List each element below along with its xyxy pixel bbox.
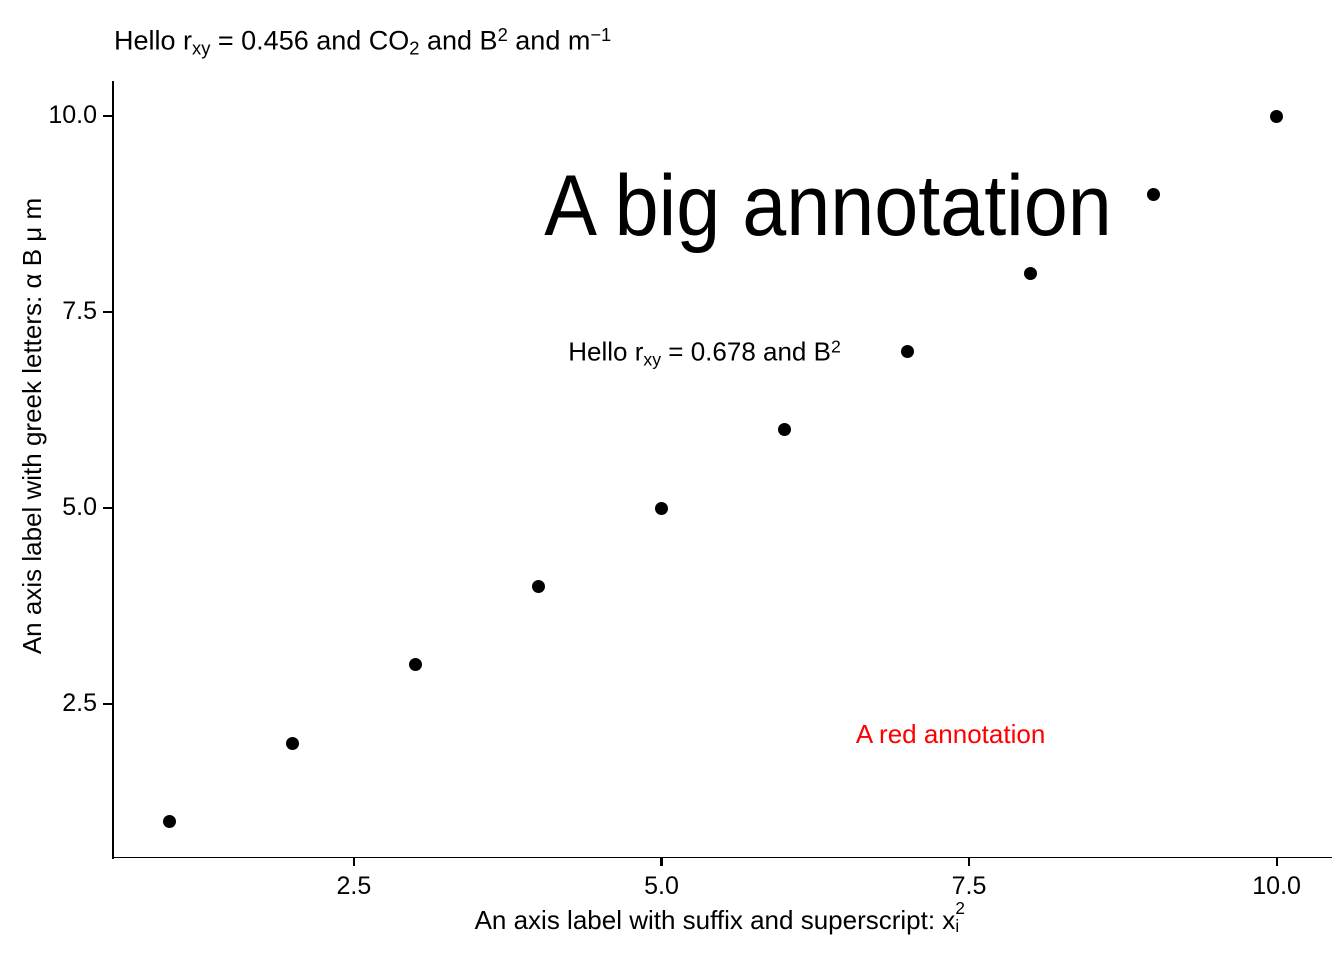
formula-annotation: Hello rxy = 0.678 and B2 bbox=[568, 334, 841, 373]
scatter-plot-figure: Hello rxy = 0.456 and CO2 and B2 and m−1… bbox=[0, 0, 1344, 960]
data-point bbox=[286, 737, 299, 750]
x-axis-label: An axis label with suffix and superscrip… bbox=[114, 903, 1332, 936]
plot-title-segment-a: Hello r bbox=[114, 25, 192, 55]
formula-annotation-subscript: xy bbox=[643, 349, 661, 369]
y-axis-tick bbox=[103, 115, 112, 117]
x-axis-tick-label: 10.0 bbox=[1207, 872, 1344, 900]
plot-title-superscript-2: 2 bbox=[498, 24, 508, 45]
data-point bbox=[901, 345, 914, 358]
y-axis-label-wrapper: An axis label with greek letters: α B μ … bbox=[15, 31, 51, 821]
y-axis-tick bbox=[103, 311, 112, 313]
x-axis-tick-label: 5.0 bbox=[591, 872, 731, 900]
x-axis-tick bbox=[1276, 857, 1278, 866]
data-point bbox=[778, 423, 791, 436]
data-point bbox=[409, 658, 422, 671]
x-axis-tick-label: 2.5 bbox=[284, 872, 424, 900]
red-annotation: A red annotation bbox=[856, 721, 1045, 747]
y-axis-label: An axis label with greek letters: α B μ … bbox=[15, 31, 49, 821]
plot-title-subscript-2: 2 bbox=[409, 37, 419, 58]
data-point bbox=[1147, 188, 1160, 201]
data-point bbox=[532, 580, 545, 593]
x-axis-tick-label: 7.5 bbox=[899, 872, 1039, 900]
formula-annotation-segment-b: = 0.678 and B bbox=[661, 336, 831, 366]
plot-title: Hello rxy = 0.456 and CO2 and B2 and m−1 bbox=[114, 18, 611, 65]
y-axis-tick bbox=[103, 703, 112, 705]
plot-title-segment-c: and B bbox=[420, 25, 498, 55]
x-axis-tick bbox=[660, 857, 662, 866]
plot-title-segment-d: and m bbox=[508, 25, 591, 55]
plot-title-segment-b: = 0.456 and CO bbox=[210, 25, 409, 55]
data-point bbox=[655, 502, 668, 515]
data-point bbox=[163, 815, 176, 828]
data-point bbox=[1270, 110, 1283, 123]
x-axis-label-text: An axis label with suffix and superscrip… bbox=[475, 905, 956, 935]
plot-title-superscript-minus1: −1 bbox=[590, 24, 611, 45]
x-axis-tick bbox=[968, 857, 970, 866]
plot-title-subscript-xy: xy bbox=[192, 37, 210, 58]
formula-annotation-segment-a: Hello r bbox=[568, 336, 643, 366]
plot-panel: A big annotationHello rxy = 0.678 and B2… bbox=[114, 81, 1332, 857]
x-axis-label-subscript: i bbox=[955, 910, 959, 942]
x-axis-tick bbox=[353, 857, 355, 866]
data-point bbox=[1024, 267, 1037, 280]
x-axis-label-stack: 2i bbox=[955, 903, 971, 929]
big-annotation: A big annotation bbox=[544, 163, 1112, 249]
y-axis-tick bbox=[103, 507, 112, 509]
formula-annotation-superscript: 2 bbox=[831, 337, 841, 357]
